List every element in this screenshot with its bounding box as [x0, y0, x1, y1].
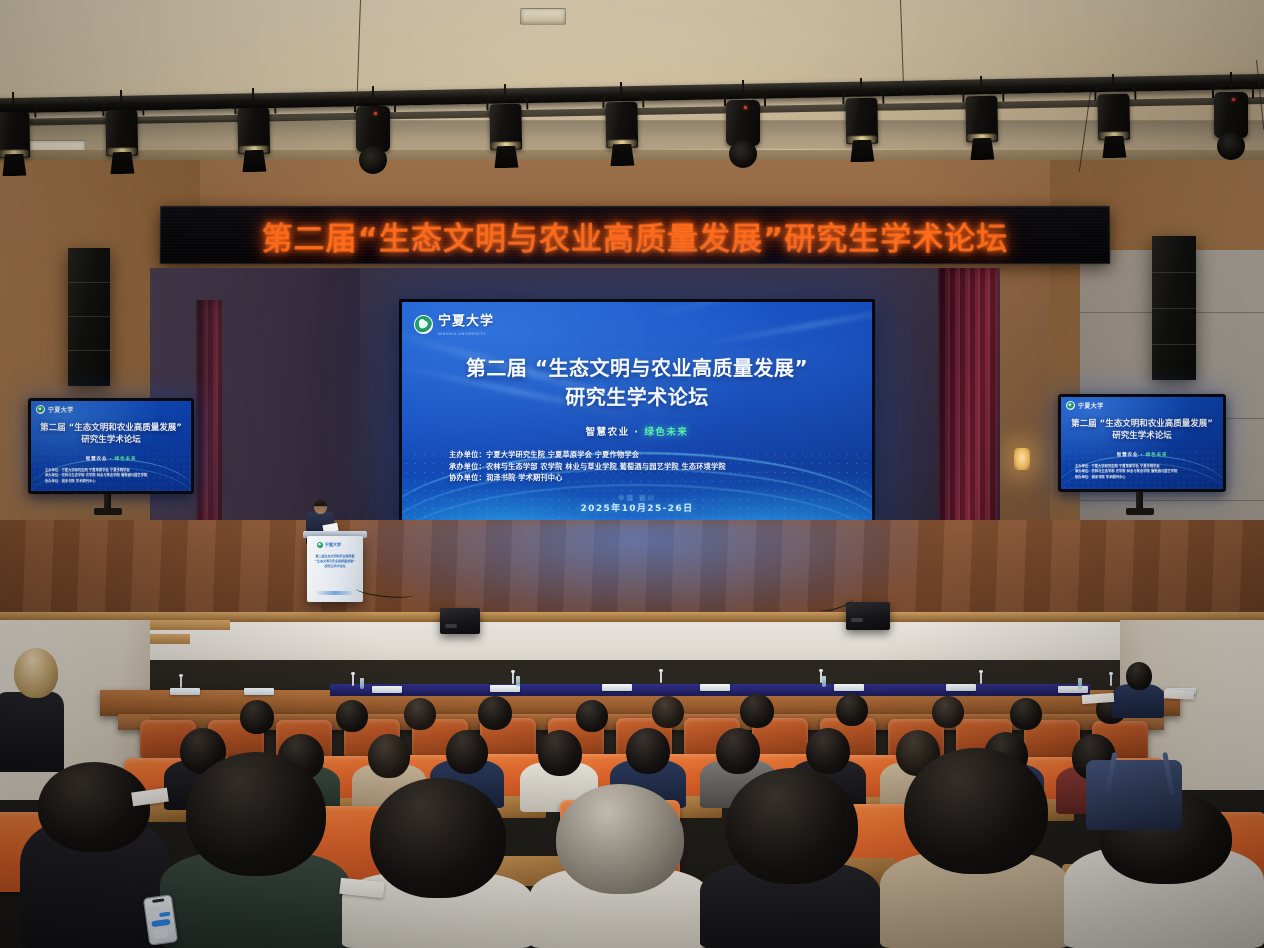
presenter-head [314, 500, 327, 514]
organizer-organizer-label: 承办单位： [449, 462, 486, 471]
slogan-part-green: 绿色未来 [1146, 453, 1168, 458]
line-array-speaker-left [68, 248, 110, 386]
main-led-screen: 宁夏大学 NINGXIA UNIVERSITY 第二届 “生态文明与农业高质量发… [399, 299, 875, 531]
chat-bubble-incoming [152, 928, 168, 939]
audience-head [368, 734, 410, 778]
side-monitor-left-logo: 宁夏大学 [36, 405, 74, 414]
stage-curtain-left [196, 300, 222, 540]
university-logo: 宁夏大学 NINGXIA UNIVERSITY [414, 312, 494, 336]
audience-head [836, 694, 868, 726]
organizer-organizer-value: 农林与生态学部 农学院 林业与草业学院 葡萄酒与园艺学院 生态环境学院 [486, 462, 726, 471]
stage-light-fixture [840, 78, 884, 167]
side-monitor-right-logo: 宁夏大学 [1066, 401, 1104, 410]
university-emblem-icon [1066, 401, 1075, 410]
water-bottle [516, 676, 520, 687]
screen-title-line1: 第二届 “生态文明与农业高质量发展” [402, 354, 872, 383]
wall-sconce-light [1014, 448, 1030, 470]
line-array-speaker-right [1152, 236, 1196, 380]
stage-light-fixture [1092, 74, 1136, 163]
stage-light-fixture [960, 76, 1004, 165]
side-monitor-left-title-line2: 研究生学术论坛 [31, 435, 191, 447]
audience-head [404, 698, 436, 730]
university-emblem-icon [414, 315, 433, 334]
side-monitor-left: 宁夏大学 第二届 “生态文明和农业高质量发展” 研究生学术论坛 智慧农业 · 绿… [28, 398, 194, 494]
desk-nameplate [1058, 686, 1088, 693]
phone-notch [152, 898, 164, 903]
ceiling-vent-icon [520, 8, 566, 25]
university-emblem-icon [36, 405, 45, 414]
stage-light-fixture [484, 84, 528, 173]
stage-light-fixture [232, 88, 276, 177]
organizer-coorganizer-label: 协办单位： [449, 473, 486, 482]
university-name-en: NINGXIA UNIVERSITY [438, 332, 494, 336]
audience-head [652, 696, 684, 728]
audience-head [538, 730, 582, 776]
podium-text-line2: “生态文明与农业高质量发展” [311, 559, 359, 564]
university-name-cn: 宁夏大学 [438, 314, 494, 329]
desk-microphone [1110, 674, 1112, 686]
audience-head [478, 696, 512, 730]
stage-light-fixture [100, 90, 144, 179]
slogan-part-white: 智慧农业 [1117, 453, 1139, 458]
stage-light-fixture [600, 82, 644, 171]
screen-title-line2: 研究生学术论坛 [402, 383, 872, 412]
side-monitor-right-title-line1: 第二届 “生态文明和农业高质量发展” [1061, 419, 1223, 431]
side-monitor-right-title: 第二届 “生态文明和农业高质量发展” 研究生学术论坛 [1061, 419, 1223, 443]
side-monitor-left-bezel: 宁夏大学 第二届 “生态文明和农业高质量发展” 研究生学术论坛 智慧农业 · 绿… [28, 398, 194, 494]
audience-head [370, 778, 506, 898]
university-name-cn: 宁夏大学 [48, 405, 74, 414]
audience-head [576, 700, 608, 732]
desk-nameplate [602, 684, 632, 691]
audience-head [556, 784, 684, 894]
audience-head [38, 762, 150, 852]
podium: 宁夏大学 第二届生态文明和农业高质量 “生态文明与农业高质量发展” 研究生学术论… [307, 536, 363, 602]
side-monitor-right-plate [1126, 508, 1154, 515]
audience-head [626, 728, 670, 774]
standing-person-body [0, 692, 64, 772]
university-name-cn: 宁夏大学 [1078, 401, 1104, 410]
side-monitor-right-organizers: 主办单位：宁夏大学研究生院 宁夏草原学会 宁夏作物学会 承办单位：农林与生态学部… [1075, 464, 1213, 480]
audience-head [446, 730, 488, 774]
stage-light-fixture-moving-head [352, 86, 394, 174]
desk-paper [1164, 689, 1194, 700]
stage-light-fixture-moving-head [1210, 72, 1252, 160]
slogan-part-green: 绿色未来 [115, 457, 137, 462]
desk-microphone [660, 671, 662, 683]
desk-microphone [980, 672, 982, 684]
slogan-separator: · [630, 427, 645, 438]
side-monitor-right-slogan: 智慧农业 · 绿色未来 [1061, 452, 1223, 458]
organizer-host-label: 主办单位： [449, 450, 486, 459]
organizer-coorganizer-row: 协办单位：润泽书院 学术期刊中心 [449, 472, 849, 484]
audience-head [186, 752, 326, 876]
floor-stage-monitor [846, 602, 890, 630]
desk-microphone [512, 672, 514, 684]
side-monitor-right: 宁夏大学 第二届 “生态文明和农业高质量发展” 研究生学术论坛 智慧农业 · 绿… [1058, 394, 1226, 492]
audience-head [240, 700, 274, 734]
floor-stage-monitor [440, 608, 480, 634]
desk-microphone [352, 674, 354, 686]
audience-head [716, 728, 760, 774]
chat-bubble-outgoing [151, 919, 171, 928]
organizer-coorganizer-value: 润泽书院 学术期刊中心 [486, 473, 563, 482]
podium-text: 第二届生态文明和农业高质量 “生态文明与农业高质量发展” 研究生学术论坛 [311, 554, 359, 568]
podium-logo: 宁夏大学 [317, 542, 341, 548]
screen-organizers: 主办单位：宁夏大学研究生院 宁夏草原学会 宁夏作物学会 承办单位：农林与生态学部… [449, 449, 849, 484]
side-monitor-right-screen: 宁夏大学 第二届 “生态文明和农业高质量发展” 研究生学术论坛 智慧农业 · 绿… [1061, 397, 1223, 489]
university-emblem-icon [317, 542, 323, 548]
screen-slogan: 智慧农业 · 绿色未来 [402, 424, 872, 438]
screen-title: 第二届 “生态文明与农业高质量发展” 研究生学术论坛 [402, 354, 872, 412]
organizer-organizer-row: 承办单位：农林与生态学部 农学院 林业与草业学院 葡萄酒与园艺学院 生态环境学院 [449, 461, 849, 473]
side-monitor-right-title-line2: 研究生学术论坛 [1061, 431, 1223, 443]
side-monitor-left-slogan: 智慧农业 · 绿色未来 [31, 456, 191, 462]
water-bottle [1078, 678, 1082, 689]
audience-head [806, 728, 850, 774]
organizer-coorganizer-row: 协办单位：润泽书院 学术期刊中心 [45, 479, 183, 484]
standing-person-head [14, 648, 58, 698]
side-monitor-left-title: 第二届 “生态文明和农业高质量发展” 研究生学术论坛 [31, 423, 191, 447]
organizer-host-value: 宁夏大学研究生院 宁夏草原学会 宁夏作物学会 [486, 450, 639, 459]
slogan-part-white: 智慧农业 [86, 457, 108, 462]
desk-nameplate [170, 688, 200, 695]
desk-nameplate [946, 684, 976, 691]
desk-nameplate [700, 684, 730, 691]
side-monitor-left-organizers: 主办单位：宁夏大学研究生院 宁夏草原学会 宁夏作物学会 承办单位：农林与生态学部… [45, 468, 183, 484]
organizer-coorganizer-row: 协办单位：润泽书院 学术期刊中心 [1075, 475, 1213, 480]
audience-head [932, 696, 964, 728]
desk-nameplate [834, 684, 864, 691]
podium-accent-bar [317, 591, 353, 595]
side-monitor-left-plate [94, 508, 122, 515]
chat-bubble-incoming [148, 906, 161, 912]
staff-member-head [1126, 662, 1152, 690]
audience-head [726, 768, 858, 884]
water-bottle [822, 676, 826, 687]
main-led-screen-content: 宁夏大学 NINGXIA UNIVERSITY 第二届 “生态文明与农业高质量发… [402, 302, 872, 528]
audience-head [336, 700, 368, 732]
podium-text-line3: 研究生学术论坛 [311, 564, 359, 569]
desk-nameplate [372, 686, 402, 693]
audience-head [904, 748, 1048, 874]
conference-hall-photo: 第二届“生态文明与农业高质量发展”研究生学术论坛 [0, 0, 1264, 948]
screen-date: 2025年10月25-26日 [402, 501, 872, 514]
led-banner: 第二届“生态文明与农业高质量发展”研究生学术论坛 [160, 206, 1111, 264]
audience-head [740, 694, 774, 728]
university-name-cn: 宁夏大学 [325, 542, 341, 548]
slogan-part-white: 智慧农业 [586, 427, 630, 438]
water-bottle [360, 678, 364, 689]
desk-nameplate [244, 688, 274, 695]
side-monitor-right-bezel: 宁夏大学 第二届 “生态文明和农业高质量发展” 研究生学术论坛 智慧农业 · 绿… [1058, 394, 1226, 492]
desk-microphone [180, 676, 182, 688]
slogan-part-green: 绿色未来 [644, 427, 688, 438]
side-monitor-left-screen: 宁夏大学 第二届 “生态文明和农业高质量发展” 研究生学术论坛 智慧农业 · 绿… [31, 401, 191, 491]
stage-light-fixture-moving-head [722, 80, 764, 168]
organizer-host-row: 主办单位：宁夏大学研究生院 宁夏草原学会 宁夏作物学会 [449, 449, 849, 461]
led-banner-text: 第二届“生态文明与农业高质量发展”研究生学术论坛 [261, 213, 1008, 258]
chat-bubble-outgoing [159, 912, 170, 917]
audience-head [1010, 698, 1042, 730]
side-monitor-left-title-line1: 第二届 “生态文明和农业高质量发展” [31, 423, 191, 435]
stage-light-fixture [0, 92, 36, 181]
